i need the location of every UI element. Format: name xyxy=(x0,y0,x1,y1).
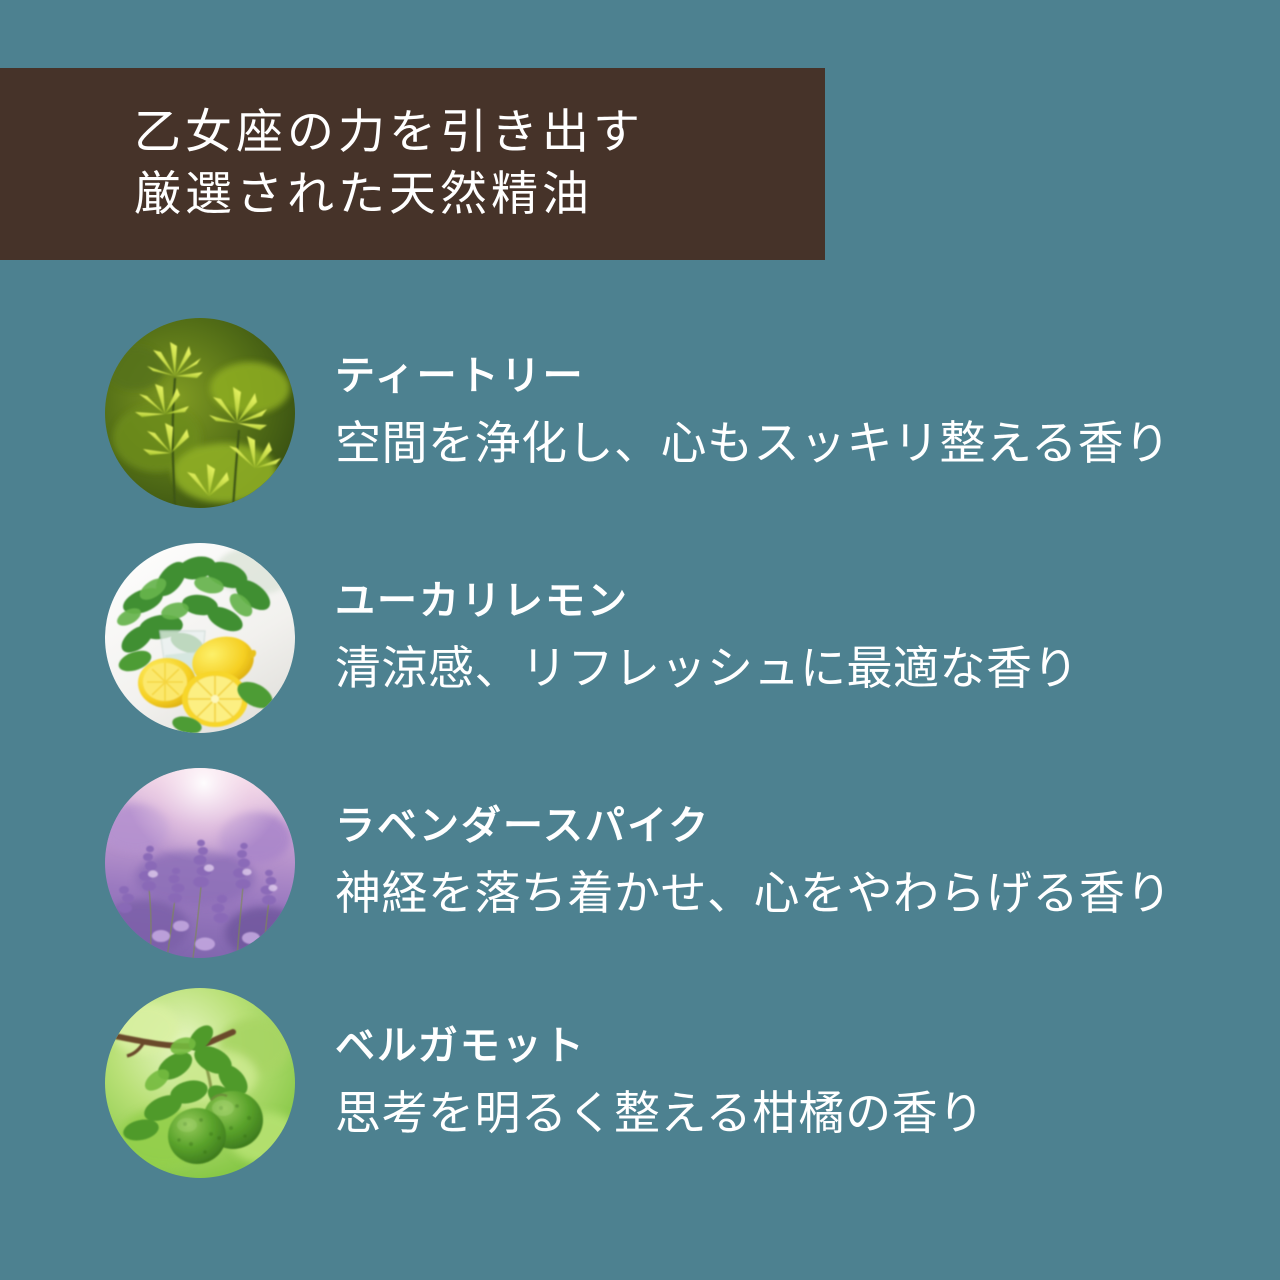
title-line-2: 厳選された天然精油 xyxy=(134,164,825,226)
oil-text: ベルガモット 思考を明るく整える柑橘の香り xyxy=(335,1023,985,1141)
oil-name: ベルガモット xyxy=(335,1023,985,1069)
list-item: ユーカリレモン 清涼感、リフレッシュに最適な香り xyxy=(0,525,1280,750)
title-line-1: 乙女座の力を引き出す xyxy=(134,102,825,164)
list-item: ベルガモット 思考を明るく整える柑橘の香り xyxy=(0,975,1280,1190)
oil-name: ラベンダースパイク xyxy=(335,803,1172,849)
title-banner: 乙女座の力を引き出す 厳選された天然精油 xyxy=(0,68,825,260)
oil-description: 思考を明るく整える柑橘の香り xyxy=(335,1087,985,1141)
oil-text: ティートリー 空間を浄化し、心もスッキリ整える香り xyxy=(335,353,1171,471)
list-item: ラベンダースパイク 神経を落ち着かせ、心をやわらげる香り xyxy=(0,750,1280,975)
essential-oil-list: ティートリー 空間を浄化し、心もスッキリ整える香り xyxy=(0,300,1280,1190)
lavender-spike-photo xyxy=(105,768,295,958)
bergamot-photo xyxy=(105,988,295,1178)
oil-text: ラベンダースパイク 神経を落ち着かせ、心をやわらげる香り xyxy=(335,803,1172,921)
oil-description: 空間を浄化し、心もスッキリ整える香り xyxy=(335,417,1171,471)
poster-canvas: 乙女座の力を引き出す 厳選された天然精油 xyxy=(0,0,1280,1280)
oil-name: ユーカリレモン xyxy=(335,578,1079,624)
oil-text: ユーカリレモン 清涼感、リフレッシュに最適な香り xyxy=(335,578,1079,696)
list-item: ティートリー 空間を浄化し、心もスッキリ整える香り xyxy=(0,300,1280,525)
oil-name: ティートリー xyxy=(335,353,1171,399)
lemon-eucalyptus-photo xyxy=(105,543,295,733)
oil-description: 清涼感、リフレッシュに最適な香り xyxy=(335,642,1079,696)
tea-tree-photo xyxy=(105,318,295,508)
oil-description: 神経を落ち着かせ、心をやわらげる香り xyxy=(335,867,1172,921)
